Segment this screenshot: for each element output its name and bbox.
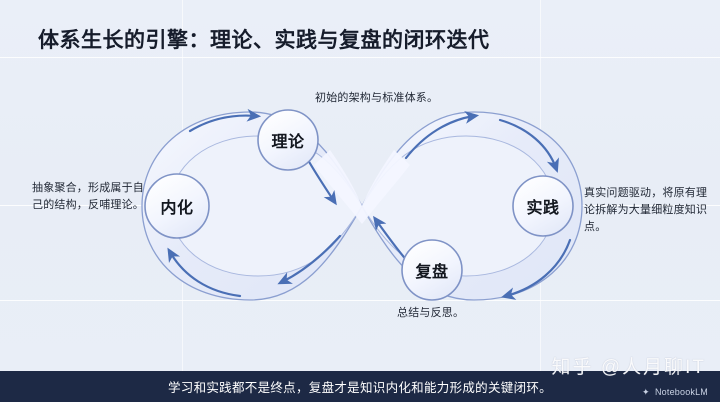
footer-bar: 学习和实践都不是终点，复盘才是知识内化和能力形成的关键闭环。 <box>0 371 720 402</box>
footer-caption: 学习和实践都不是终点，复盘才是知识内化和能力形成的关键闭环。 <box>168 377 552 396</box>
sparkle-icon: ✦ <box>642 388 651 397</box>
annotation-theory: 初始的架构与标准体系。 <box>315 90 445 107</box>
loop-node-label-practice: 实践 <box>526 194 559 218</box>
notebooklm-label: NotebookLM <box>655 387 708 397</box>
annotation-internalize: 抽象聚合，形成属于自己的结构，反哺理论。 <box>32 180 144 214</box>
loop-node-label-review: 复盘 <box>415 258 448 282</box>
notebooklm-badge: ✦ NotebookLM <box>642 387 708 397</box>
loop-node-label-theory: 理论 <box>271 128 304 152</box>
annotation-review: 总结与反思。 <box>397 305 547 322</box>
slide-canvas: 体系生长的引擎：理论、实践与复盘的闭环迭代 <box>0 0 720 402</box>
loop-node-label-internalize: 内化 <box>160 194 193 218</box>
annotation-practice: 真实问题驱动，将原有理论拆解为大量细粒度知识点。 <box>584 185 708 236</box>
